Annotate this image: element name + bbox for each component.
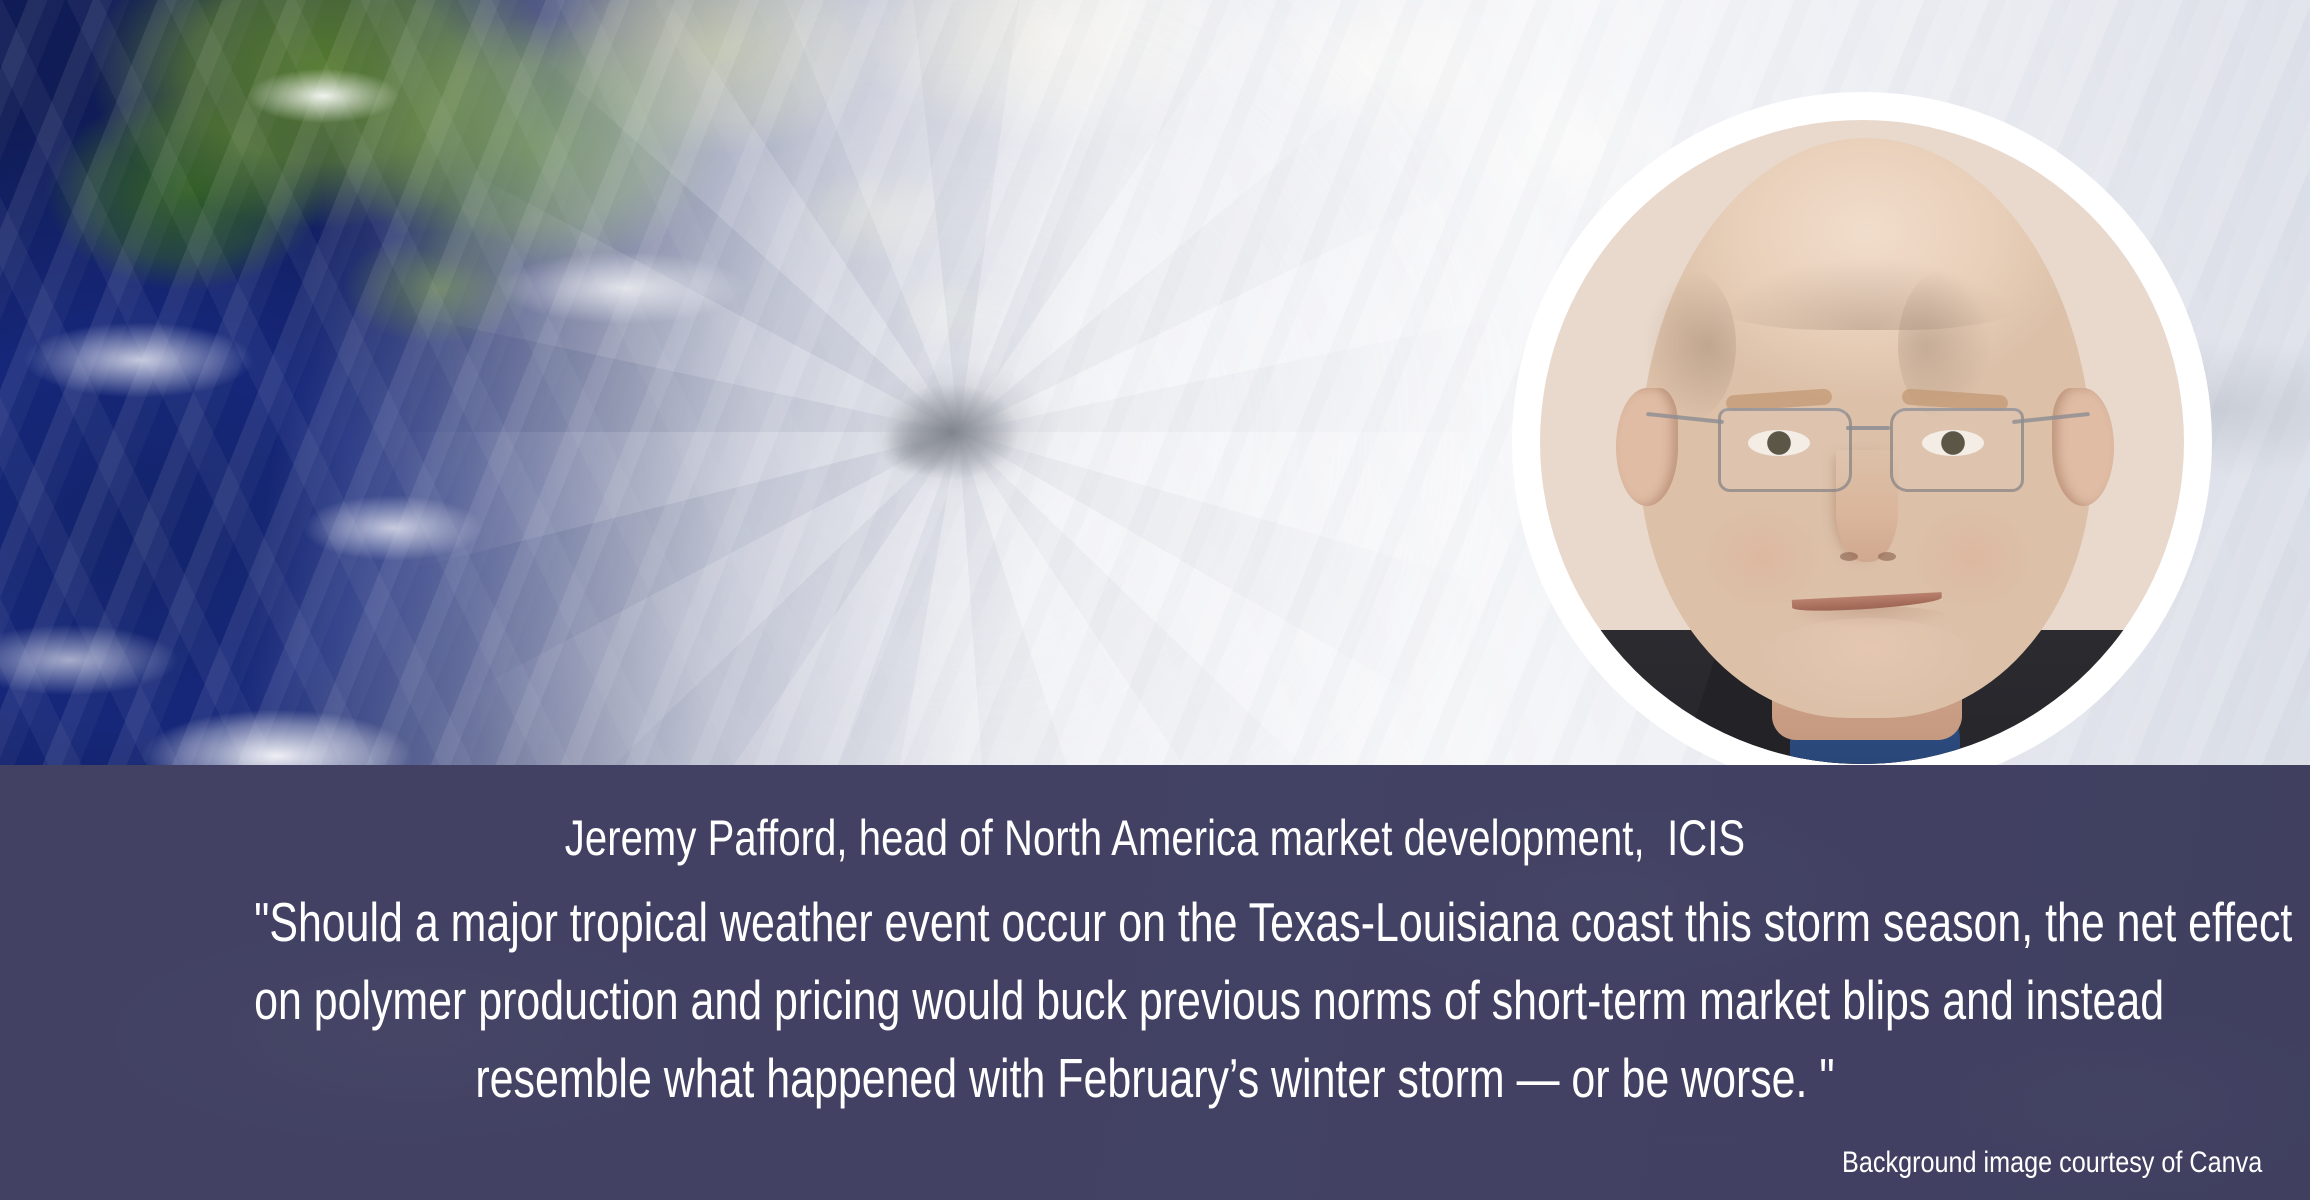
- portrait-cheek-left: [1702, 506, 1822, 610]
- glasses-bridge: [1846, 426, 1890, 430]
- avatar: [1512, 92, 2212, 792]
- portrait-chin: [1756, 618, 1982, 714]
- glasses-lens-left: [1718, 408, 1852, 492]
- quote-line-2: on polymer production and pricing would …: [254, 961, 2056, 1039]
- portrait-nostril-left: [1840, 552, 1858, 561]
- quote-line-1: "Should a major tropical weather event o…: [254, 883, 2056, 961]
- portrait-temple-left: [1644, 270, 1736, 420]
- quote-card: Jeremy Pafford, head of North America ma…: [0, 0, 2310, 1200]
- caption-content: Jeremy Pafford, head of North America ma…: [0, 765, 2310, 1200]
- image-credit: Background image courtesy of Canva: [1842, 1148, 2262, 1178]
- speaker-attribution: Jeremy Pafford, head of North America ma…: [231, 813, 2079, 863]
- caption-panel: Jeremy Pafford, head of North America ma…: [0, 765, 2310, 1200]
- portrait-ear-right: [2052, 388, 2114, 506]
- quote-block: "Should a major tropical weather event o…: [0, 883, 2310, 1117]
- glasses-lens-right: [1890, 408, 2024, 492]
- portrait-nostril-right: [1878, 552, 1896, 561]
- quote-line-3: resemble what happened with February’s w…: [254, 1039, 2056, 1117]
- avatar-photo: [1540, 120, 2184, 764]
